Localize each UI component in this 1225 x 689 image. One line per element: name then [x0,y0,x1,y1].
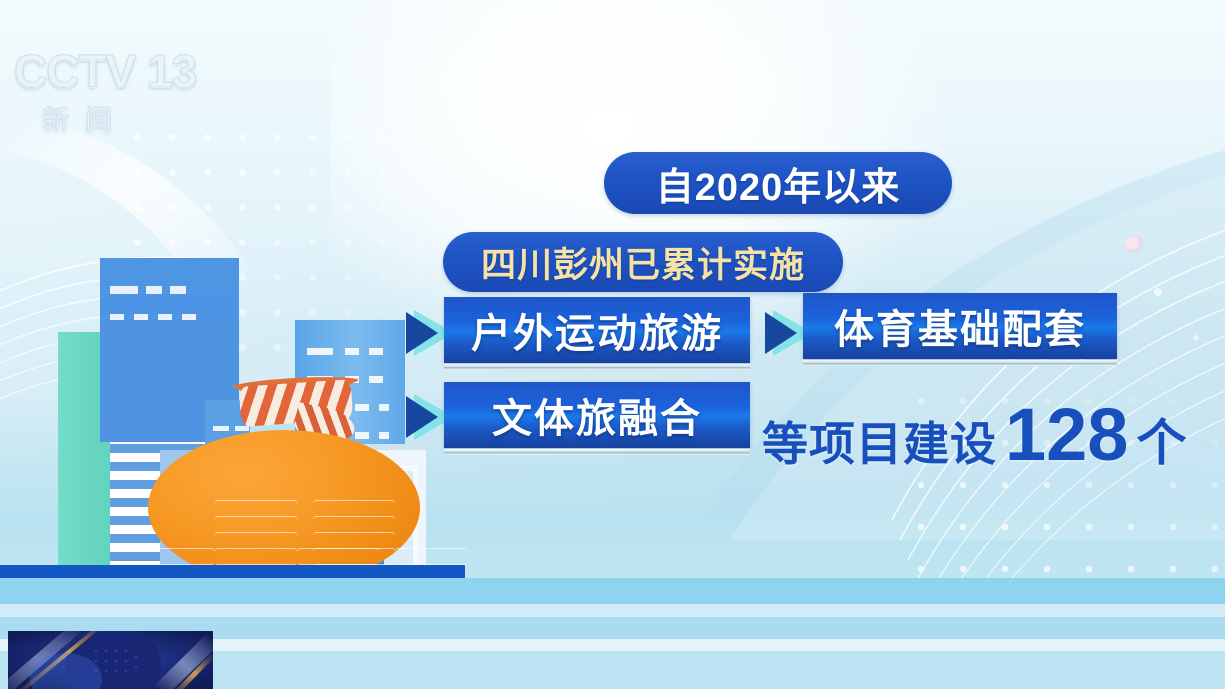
category-banner-2: 体育基础配套 [803,293,1117,359]
category-label-3: 文体旅融合 [492,386,702,444]
news-ticker-graphic [8,631,213,689]
road-stripe-2 [0,604,1225,617]
summary-lead: 等项目建设 [762,408,997,474]
ground-band [0,565,465,578]
category-label-1: 户外运动旅游 [471,301,723,359]
since-pill: 自2020年以来 [604,152,952,214]
ticker-globe-icon [8,631,213,689]
summary-unit: 个 [1136,403,1186,475]
road-stripe-1 [0,578,1225,604]
category-banner-2-rule [803,360,1117,366]
broadcast-screen: CCTV 13 新闻 自2020年以来 四川彭州已累计实施 户外运动旅游 体育基… [0,0,1225,689]
cctv13-logo-sub: 新闻 [14,98,204,137]
summary-number: 128 [1005,392,1128,477]
category-banner-1: 户外运动旅游 [444,297,750,363]
category-label-2: 体育基础配套 [834,297,1086,355]
summary-sentence: 等项目建设 128 个 [762,392,1186,477]
cctv13-logo-main: CCTV 13 [14,48,204,94]
category-banner-1-rule [444,364,750,370]
category-banner-3-rule [444,449,750,455]
category-banner-3: 文体旅融合 [444,382,750,448]
cctv13-logo: CCTV 13 新闻 [14,48,204,148]
subject-label: 四川彭州已累计实施 [481,237,805,288]
subject-pill: 四川彭州已累计实施 [443,232,843,292]
since-label: 自2020年以来 [656,156,901,211]
